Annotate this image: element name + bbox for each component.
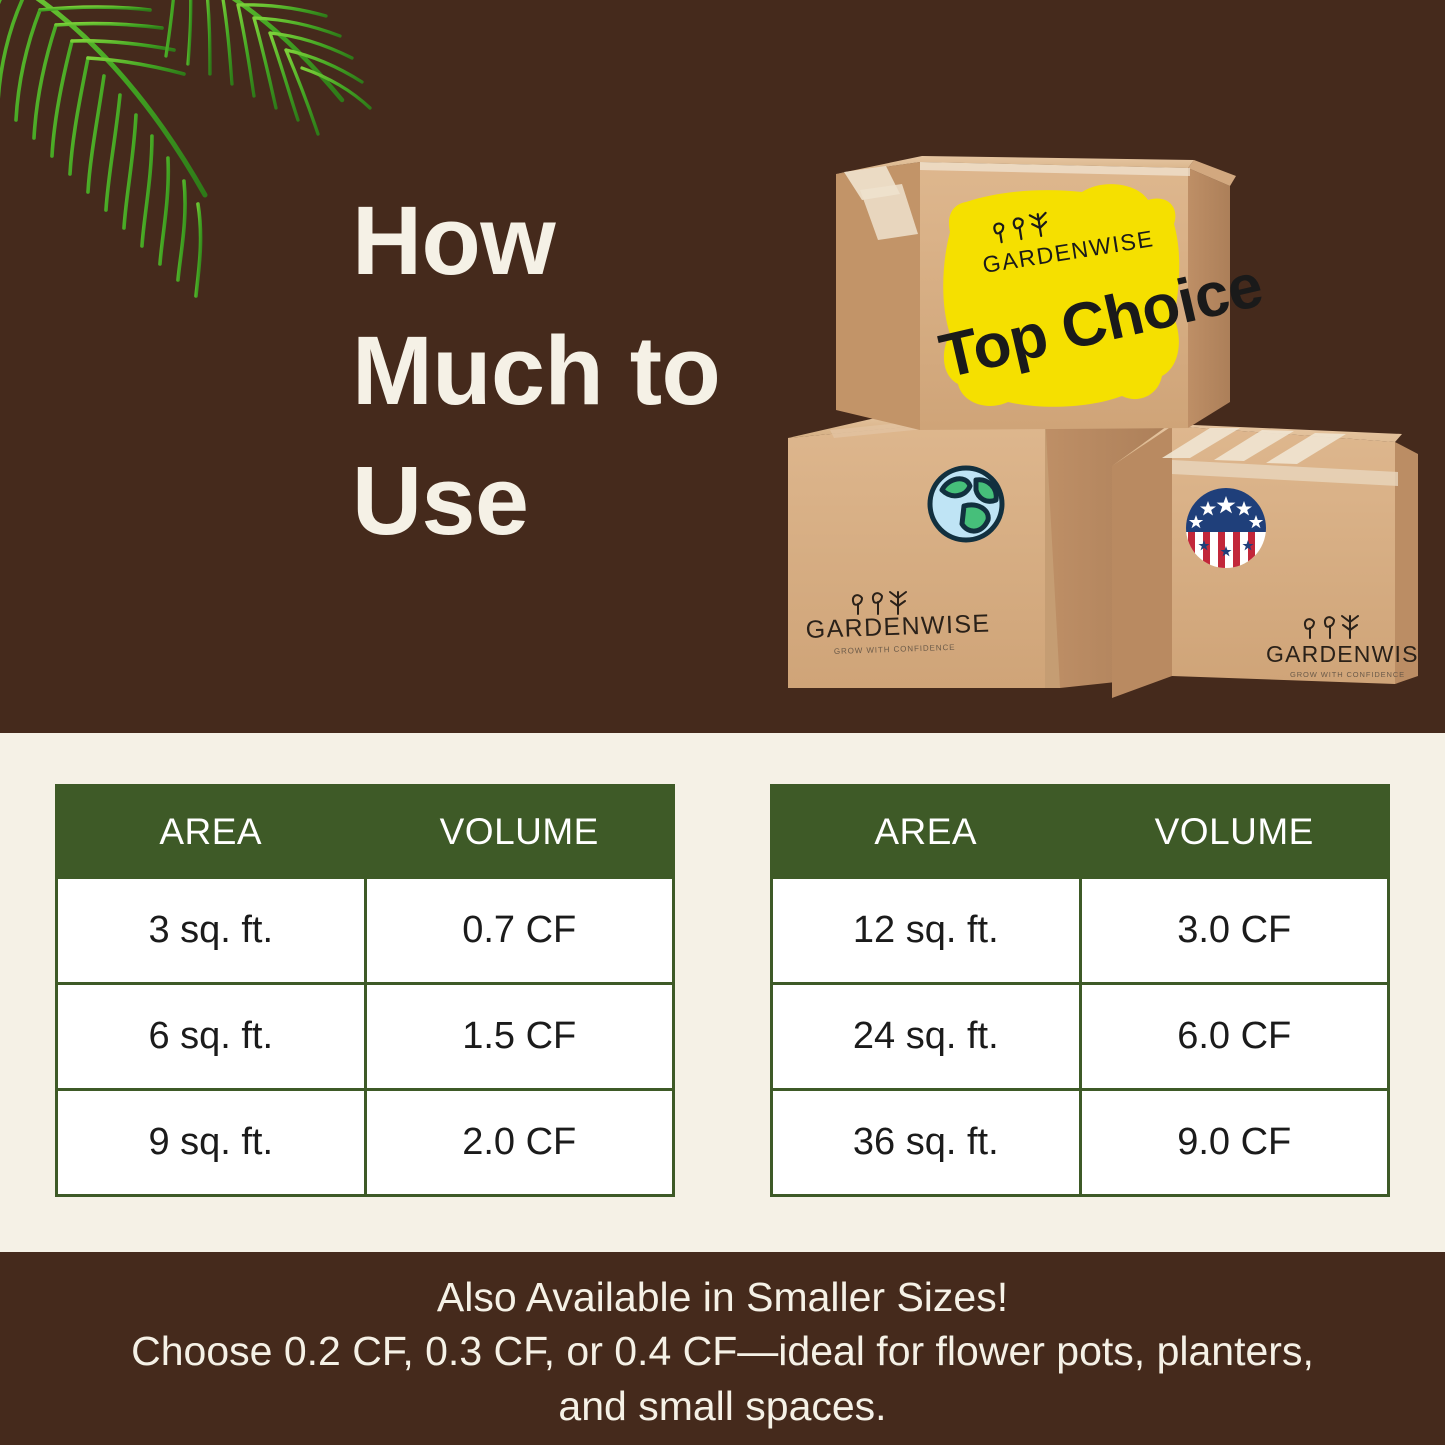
cell-volume: 1.5 CF	[365, 984, 674, 1090]
column-header-volume: VOLUME	[1080, 786, 1389, 878]
table-header-row: AREA VOLUME	[57, 786, 674, 878]
coverage-tables-section: AREA VOLUME 3 sq. ft. 0.7 CF 6 sq. ft. 1…	[0, 733, 1445, 1252]
cell-area: 6 sq. ft.	[57, 984, 366, 1090]
page-title: How Much to Use	[352, 176, 752, 566]
table-row: 36 sq. ft. 9.0 CF	[772, 1090, 1389, 1196]
cell-area: 24 sq. ft.	[772, 984, 1081, 1090]
cell-area: 9 sq. ft.	[57, 1090, 366, 1196]
top-box: GARDENWISE Top Choice	[836, 156, 1269, 430]
footer-line-1: Also Available in Smaller Sizes!	[53, 1270, 1393, 1325]
column-header-volume: VOLUME	[365, 786, 674, 878]
footer-note: Also Available in Smaller Sizes! Choose …	[0, 1252, 1445, 1445]
table-row: 12 sq. ft. 3.0 CF	[772, 878, 1389, 984]
brand-name: GARDENWISE	[1266, 641, 1420, 667]
hero-section: How Much to Use	[0, 0, 1445, 733]
cell-volume: 9.0 CF	[1080, 1090, 1389, 1196]
product-infographic: How Much to Use	[0, 0, 1445, 1445]
cell-area: 3 sq. ft.	[57, 878, 366, 984]
small-coverage-table: AREA VOLUME 3 sq. ft. 0.7 CF 6 sq. ft. 1…	[55, 784, 675, 1197]
brand-tagline: GROW WITH CONFIDENCE	[1290, 670, 1405, 679]
right-box: GARDENWISE GROW WITH CONFIDENCE	[1112, 424, 1420, 698]
table-row: 3 sq. ft. 0.7 CF	[57, 878, 674, 984]
table-header-row: AREA VOLUME	[772, 786, 1389, 878]
earth-globe-icon	[930, 468, 1002, 540]
column-header-area: AREA	[772, 786, 1081, 878]
cell-area: 36 sq. ft.	[772, 1090, 1081, 1196]
cell-volume: 2.0 CF	[365, 1090, 674, 1196]
usa-flag-badge-icon	[1186, 488, 1266, 568]
table-row: 6 sq. ft. 1.5 CF	[57, 984, 674, 1090]
footer-line-2: Choose 0.2 CF, 0.3 CF, or 0.4 CF—ideal f…	[53, 1324, 1393, 1379]
cell-volume: 3.0 CF	[1080, 878, 1389, 984]
table-row: 9 sq. ft. 2.0 CF	[57, 1090, 674, 1196]
cell-volume: 6.0 CF	[1080, 984, 1389, 1090]
palm-frond-icon	[0, 0, 390, 360]
column-header-area: AREA	[57, 786, 366, 878]
table-row: 24 sq. ft. 6.0 CF	[772, 984, 1389, 1090]
cell-area: 12 sq. ft.	[772, 878, 1081, 984]
product-boxes-illustration: GARDENWISE GROW WITH CONFIDENCE	[770, 128, 1420, 698]
footer-line-3: and small spaces.	[53, 1379, 1393, 1434]
large-coverage-table: AREA VOLUME 12 sq. ft. 3.0 CF 24 sq. ft.…	[770, 784, 1390, 1197]
cell-volume: 0.7 CF	[365, 878, 674, 984]
